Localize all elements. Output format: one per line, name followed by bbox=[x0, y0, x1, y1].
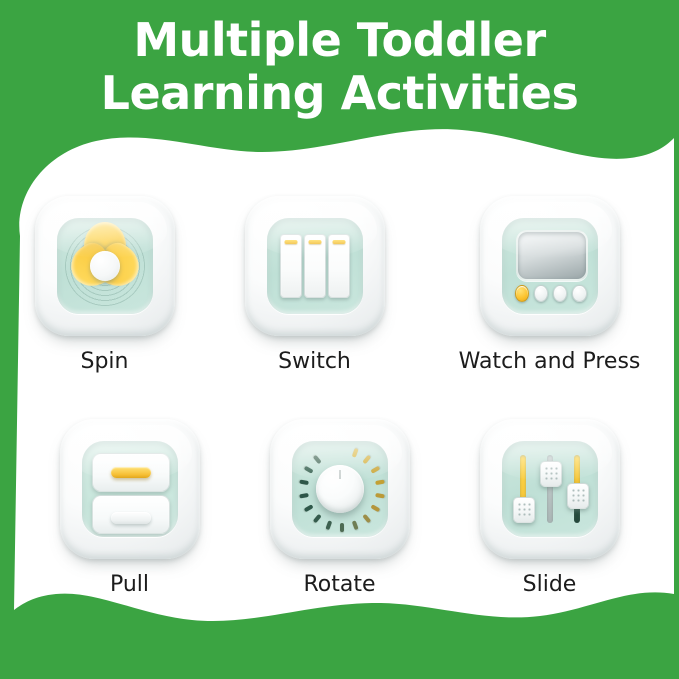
indicator-light-icon bbox=[284, 240, 297, 244]
fader-knob[interactable] bbox=[513, 497, 535, 523]
tile-panel bbox=[57, 218, 153, 314]
fader-knob[interactable] bbox=[567, 483, 589, 509]
knob-pointer-icon bbox=[339, 470, 340, 479]
drawer-lower[interactable] bbox=[92, 495, 170, 534]
activity-card-watch-press[interactable]: Watch and Press bbox=[450, 196, 650, 374]
title-line-1: Multiple Toddler bbox=[133, 13, 545, 67]
round-button-icon[interactable] bbox=[515, 285, 529, 302]
tile-panel bbox=[502, 441, 598, 537]
rocker-switch[interactable] bbox=[328, 234, 350, 298]
drawer-handle-icon bbox=[111, 467, 151, 478]
fader-track-3[interactable] bbox=[568, 453, 586, 525]
product-feature-poster: Multiple Toddler Learning Activities Spi… bbox=[0, 0, 679, 679]
activity-label-switch: Switch bbox=[278, 349, 351, 374]
rocker-switch[interactable] bbox=[280, 234, 302, 298]
round-button-icon[interactable] bbox=[534, 285, 548, 302]
activity-card-spin[interactable]: Spin bbox=[30, 196, 180, 374]
tile-panel bbox=[502, 218, 598, 314]
fader-sliders-icon bbox=[514, 453, 586, 525]
activity-label-rotate: Rotate bbox=[303, 572, 375, 597]
screen-icon bbox=[516, 230, 588, 281]
tile-slide[interactable] bbox=[480, 419, 620, 559]
activity-card-rotate[interactable]: Rotate bbox=[265, 419, 415, 597]
button-row bbox=[515, 284, 587, 302]
fader-track-2[interactable] bbox=[541, 453, 559, 525]
activity-card-pull[interactable]: Pull bbox=[55, 419, 205, 597]
round-button-icon[interactable] bbox=[572, 285, 586, 302]
activity-label-slide: Slide bbox=[523, 572, 577, 597]
rocker-switch[interactable] bbox=[304, 234, 326, 298]
light-switch-icon bbox=[280, 234, 350, 298]
tile-switch[interactable] bbox=[245, 196, 385, 336]
activity-row-1: Spin Switch bbox=[0, 196, 679, 374]
tile-rotate[interactable] bbox=[270, 419, 410, 559]
activity-card-slide[interactable]: Slide bbox=[475, 419, 625, 597]
tile-pull[interactable] bbox=[60, 419, 200, 559]
title-line-2: Learning Activities bbox=[0, 67, 679, 120]
tile-panel bbox=[267, 218, 363, 314]
tile-panel bbox=[82, 441, 178, 537]
tile-panel bbox=[292, 441, 388, 537]
rotary-knob-icon[interactable] bbox=[316, 465, 364, 513]
activity-card-switch[interactable]: Switch bbox=[240, 196, 390, 374]
indicator-light-icon bbox=[308, 240, 321, 244]
activity-label-watch-press: Watch and Press bbox=[459, 349, 641, 374]
fader-track-1[interactable] bbox=[514, 453, 532, 525]
page-title: Multiple Toddler Learning Activities bbox=[0, 14, 679, 120]
tile-watch-press[interactable] bbox=[480, 196, 620, 336]
round-button-icon[interactable] bbox=[553, 285, 567, 302]
indicator-light-icon bbox=[332, 240, 345, 244]
fan-hub-icon bbox=[90, 251, 120, 281]
activity-label-pull: Pull bbox=[110, 572, 149, 597]
activity-label-spin: Spin bbox=[81, 349, 129, 374]
fader-knob[interactable] bbox=[540, 461, 562, 487]
activity-row-2: Pull bbox=[0, 419, 679, 597]
tile-spin[interactable] bbox=[35, 196, 175, 336]
drawer-handle-icon bbox=[111, 512, 151, 524]
activity-grid: Spin Switch bbox=[0, 196, 679, 597]
drawer-upper[interactable] bbox=[92, 453, 170, 492]
